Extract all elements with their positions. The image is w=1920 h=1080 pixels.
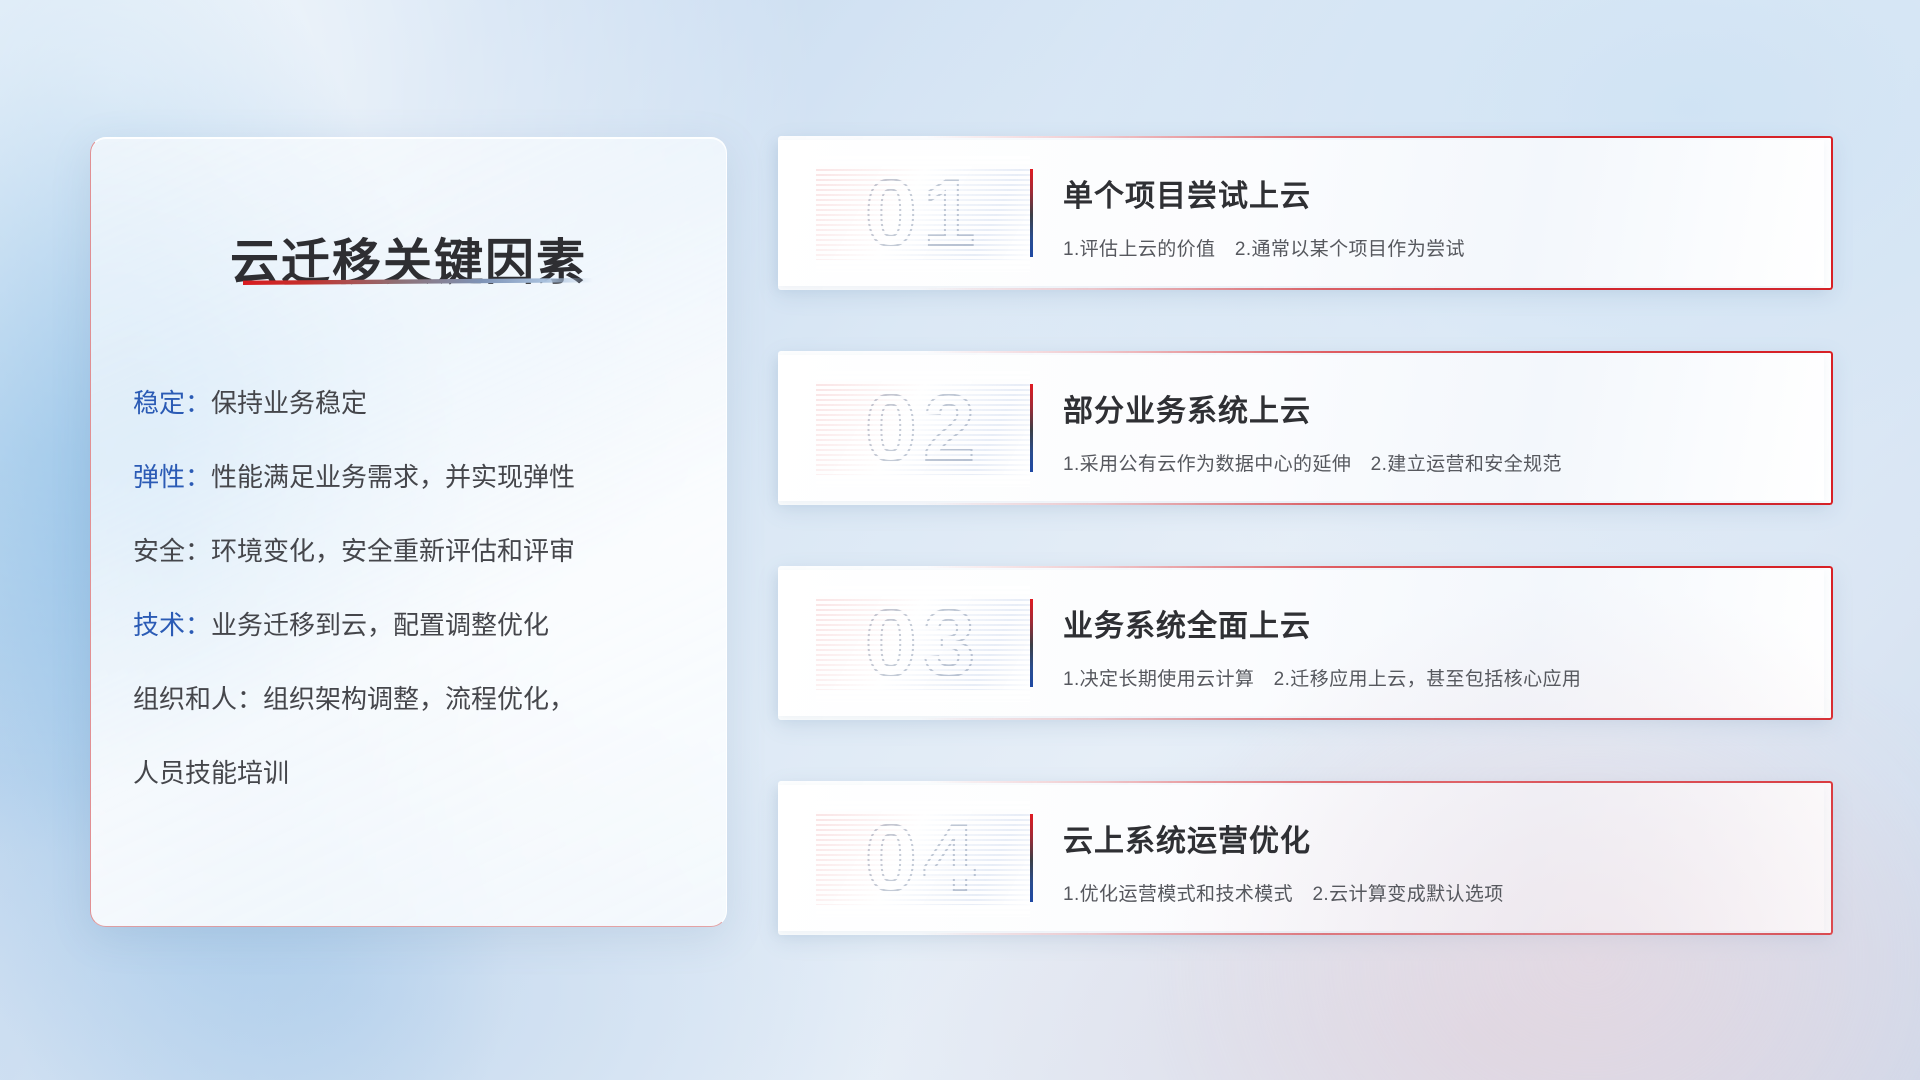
stage-card-inner: 01单个项目尝试上云1.评估上云的价值 2.通常以某个项目作为尝试	[778, 136, 1833, 290]
stage-card-inner: 03业务系统全面上云1.决定长期使用云计算 2.迁移应用上云，甚至包括核心应用	[778, 566, 1833, 720]
stage-card[interactable]: 02部分业务系统上云1.采用公有云作为数据中心的延伸 2.建立运营和安全规范	[778, 351, 1833, 505]
stage-number-watermark: 02	[816, 381, 1030, 475]
stage-title: 部分业务系统上云	[1063, 386, 1809, 430]
key-factor-text: 性能满足业务需求，并实现弹性	[211, 462, 575, 492]
stage-accent-divider	[1030, 169, 1033, 257]
stage-text-block: 单个项目尝试上云1.评估上云的价值 2.通常以某个项目作为尝试	[1063, 146, 1833, 280]
key-factor-item: 安全：环境变化，安全重新评估和评审	[133, 514, 700, 588]
stage-description: 1.评估上云的价值 2.通常以某个项目作为尝试	[1063, 234, 1809, 261]
key-factor-label: 弹性：	[133, 462, 211, 492]
stage-card-inner: 02部分业务系统上云1.采用公有云作为数据中心的延伸 2.建立运营和安全规范	[778, 351, 1833, 505]
stage-description: 1.优化运营模式和技术模式 2.云计算变成默认选项	[1063, 879, 1809, 906]
key-factor-text: 组织架构调整，流程优化，	[263, 684, 575, 714]
key-factor-text: 人员技能培训	[133, 758, 289, 788]
stage-number-tint	[816, 596, 1030, 690]
key-factor-text: 环境变化，安全重新评估和评审	[211, 536, 575, 566]
key-factor-item: 稳定：保持业务稳定	[133, 366, 700, 440]
migration-stage-list: 01单个项目尝试上云1.评估上云的价值 2.通常以某个项目作为尝试02部分业务系…	[778, 136, 1833, 996]
stage-card[interactable]: 03业务系统全面上云1.决定长期使用云计算 2.迁移应用上云，甚至包括核心应用	[778, 566, 1833, 720]
stage-title: 云上系统运营优化	[1063, 816, 1809, 860]
stage-description: 1.采用公有云作为数据中心的延伸 2.建立运营和安全规范	[1063, 449, 1809, 476]
key-factors-card: 云迁移关键因素 稳定：保持业务稳定弹性：性能满足业务需求，并实现弹性安全：环境变…	[90, 137, 727, 927]
stage-description: 1.决定长期使用云计算 2.迁移应用上云，甚至包括核心应用	[1063, 664, 1809, 691]
stage-number-tint	[816, 166, 1030, 260]
key-factor-label: 技术：	[133, 610, 211, 640]
stage-number-watermark: 04	[816, 811, 1030, 905]
stage-accent-divider	[1030, 384, 1033, 472]
slide-canvas: 云迁移关键因素 稳定：保持业务稳定弹性：性能满足业务需求，并实现弹性安全：环境变…	[0, 0, 1920, 1080]
stage-accent-divider	[1030, 814, 1033, 902]
key-factor-item: 组织和人：组织架构调整，流程优化，	[133, 662, 700, 736]
stage-accent-divider	[1030, 599, 1033, 687]
stage-text-block: 云上系统运营优化1.优化运营模式和技术模式 2.云计算变成默认选项	[1063, 791, 1833, 925]
stage-title: 单个项目尝试上云	[1063, 171, 1809, 215]
key-factor-item: 弹性：性能满足业务需求，并实现弹性	[133, 440, 700, 514]
stage-text-block: 部分业务系统上云1.采用公有云作为数据中心的延伸 2.建立运营和安全规范	[1063, 361, 1833, 495]
key-factor-label: 稳定：	[133, 388, 211, 418]
key-factor-text: 业务迁移到云，配置调整优化	[211, 610, 549, 640]
stage-card[interactable]: 04云上系统运营优化1.优化运营模式和技术模式 2.云计算变成默认选项	[778, 781, 1833, 935]
stage-text-block: 业务系统全面上云1.决定长期使用云计算 2.迁移应用上云，甚至包括核心应用	[1063, 576, 1833, 710]
key-factor-label: 组织和人：	[133, 684, 263, 714]
stage-title: 业务系统全面上云	[1063, 601, 1809, 645]
stage-number-watermark: 01	[816, 166, 1030, 260]
key-factor-label: 安全：	[133, 536, 211, 566]
key-factor-text: 保持业务稳定	[211, 388, 367, 418]
key-factor-item: 技术：业务迁移到云，配置调整优化	[133, 588, 700, 662]
stage-number-tint	[816, 381, 1030, 475]
stage-card-inner: 04云上系统运营优化1.优化运营模式和技术模式 2.云计算变成默认选项	[778, 781, 1833, 935]
key-factor-item: 人员技能培训	[133, 736, 700, 810]
stage-card[interactable]: 01单个项目尝试上云1.评估上云的价值 2.通常以某个项目作为尝试	[778, 136, 1833, 290]
stage-number-tint	[816, 811, 1030, 905]
key-factors-list: 稳定：保持业务稳定弹性：性能满足业务需求，并实现弹性安全：环境变化，安全重新评估…	[133, 366, 700, 810]
stage-number-watermark: 03	[816, 596, 1030, 690]
